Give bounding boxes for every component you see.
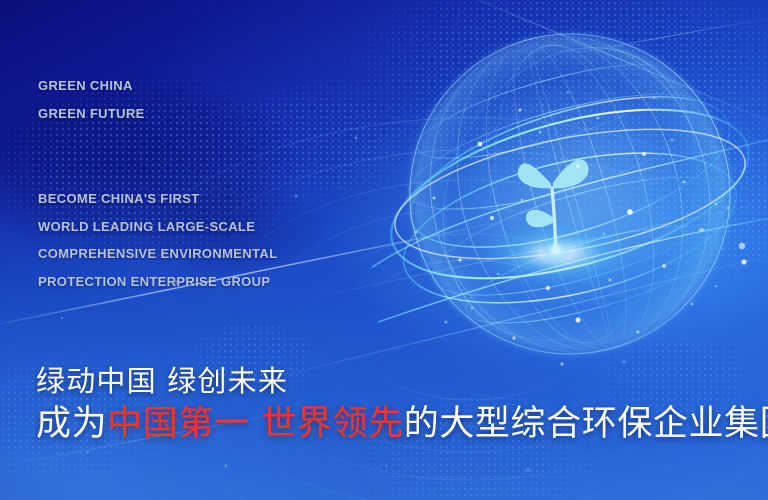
globe-sphere-body — [410, 34, 730, 354]
headline-accent: 中国第一 世界领先 — [107, 404, 404, 444]
chinese-headline: 绿动中国 绿创未来 成为中国第一 世界领先的大型综合环保企业集团 — [36, 362, 768, 447]
globe-core-burst — [476, 220, 640, 288]
globe-svg — [372, 22, 768, 378]
sprout-seedling-icon — [518, 159, 589, 252]
headline-suffix: 的大型综合环保企业集团 — [404, 404, 768, 444]
globe-particles — [415, 97, 747, 366]
wireframe-globe — [372, 22, 768, 378]
globe-meridians — [372, 22, 768, 378]
chinese-headline-line-1: 绿动中国 绿创未来 — [36, 362, 768, 400]
globe-core-highlight — [541, 235, 571, 265]
globe-rim-glow — [404, 28, 736, 360]
mission-line-3: COMPREHENSIVE ENVIRONMENTAL — [38, 240, 277, 268]
globe-orbital-rings — [374, 22, 767, 378]
mission-line-1: BECOME CHINA'S FIRST — [38, 185, 277, 213]
english-mission-statement: BECOME CHINA'S FIRST WORLD LEADING LARGE… — [38, 185, 277, 295]
globe-latitude-bands — [389, 40, 751, 349]
globe-particles-cyan — [445, 91, 718, 364]
chinese-headline-line-2: 成为中国第一 世界领先的大型综合环保企业集团 — [36, 402, 768, 447]
mission-line-2: WORLD LEADING LARGE-SCALE — [38, 213, 277, 241]
mission-line-4: PROTECTION ENTERPRISE GROUP — [38, 268, 277, 296]
hero-banner: GREEN CHINA GREEN FUTURE BECOME CHINA'S … — [0, 0, 768, 500]
headline-prefix: 成为 — [36, 404, 107, 444]
english-tagline-top: GREEN CHINA GREEN FUTURE — [38, 72, 145, 127]
tagline-line-green-future: GREEN FUTURE — [38, 100, 145, 128]
globe-sweep-arcs — [372, 140, 768, 322]
tagline-line-green-china: GREEN CHINA — [38, 72, 145, 100]
globe-outline — [410, 34, 730, 354]
